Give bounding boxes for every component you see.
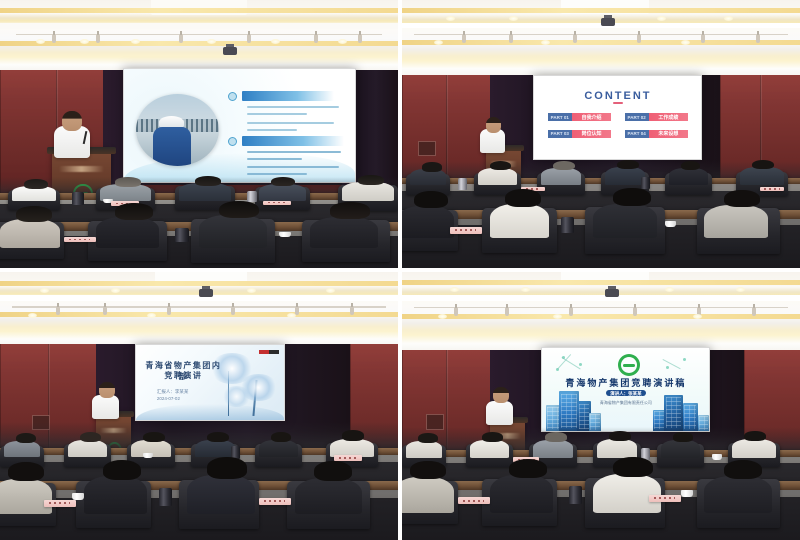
photo-panel-bottom-left[interactable]: 青海省物产集团内部 竞聘演讲 汇报人：李某某 2024-07-02 [0, 272, 398, 540]
photo-panel-top-left[interactable] [0, 0, 398, 268]
photo-collage: CONTENT PART 01 自我介绍 PART 02 工作成绩 PART 0… [0, 0, 800, 540]
photo-panel-top-right[interactable]: CONTENT PART 01 自我介绍 PART 02 工作成绩 PART 0… [402, 0, 800, 268]
photo-panel-bottom-right[interactable]: 青海物产集团竞聘演讲稿 演讲人：张某某 青海省物产集团有限责任公司 [402, 272, 800, 540]
